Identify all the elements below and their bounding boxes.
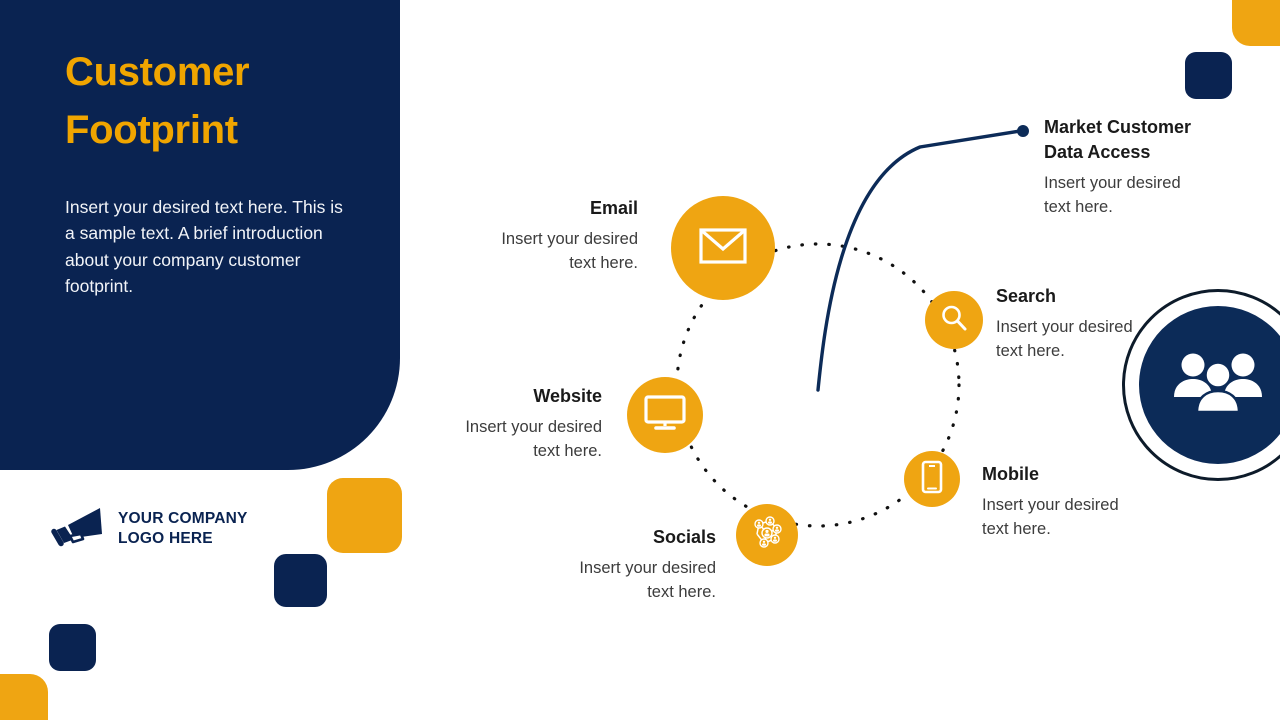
label-title: Socials: [518, 525, 716, 550]
label-mobile: Mobile Insert your desired text here.: [982, 462, 1182, 542]
decor-amber-square-mid-left: [327, 478, 402, 553]
label-socials: Socials Insert your desired text here.: [518, 525, 716, 605]
label-search: Search Insert your desired text here.: [996, 284, 1196, 364]
label-title: Search: [996, 284, 1196, 309]
slide-canvas: Customer Footprint Insert your desired t…: [0, 0, 1280, 720]
label-body: Insert your desired text here.: [996, 316, 1196, 364]
monitor-icon: [644, 395, 686, 436]
logo-text: YOUR COMPANY LOGO HERE: [118, 509, 248, 548]
label-body: Insert your desired text here.: [440, 228, 638, 276]
label-body: Insert your desired text here.: [518, 557, 716, 605]
label-body: Insert your desired text here.: [404, 416, 602, 464]
label-title: Mobile: [982, 462, 1182, 487]
megaphone-icon: [48, 505, 104, 552]
node-circle-website[interactable]: [627, 377, 703, 453]
label-email: Email Insert your desired text here.: [440, 196, 638, 276]
node-circle-socials[interactable]: [736, 504, 798, 566]
company-logo: YOUR COMPANY LOGO HERE: [48, 505, 248, 552]
node-circle-email[interactable]: [671, 196, 775, 300]
envelope-icon: [699, 228, 747, 269]
intro-paragraph: Insert your desired text here. This is a…: [65, 194, 350, 299]
decor-navy-square-mid-left: [274, 554, 327, 607]
label-market-customer-data-access: Market Customer Data Access Insert your …: [1044, 115, 1234, 220]
node-circle-search[interactable]: [925, 291, 983, 349]
network-nodes-icon: [748, 514, 786, 557]
label-body: Insert your desired text here.: [1044, 172, 1234, 220]
magnifier-icon: [939, 303, 969, 338]
decor-amber-square-bottom-left: [0, 674, 48, 720]
label-title: Website: [404, 384, 602, 409]
node-circle-mobile[interactable]: [904, 451, 960, 507]
smartphone-icon: [921, 460, 943, 499]
label-website: Website Insert your desired text here.: [404, 384, 602, 464]
label-title: Email: [440, 196, 638, 221]
decor-navy-square-bottom-left: [49, 624, 96, 671]
label-body: Insert your desired text here.: [982, 494, 1182, 542]
page-title: Customer Footprint: [65, 44, 375, 159]
label-title: Market Customer Data Access: [1044, 115, 1234, 165]
